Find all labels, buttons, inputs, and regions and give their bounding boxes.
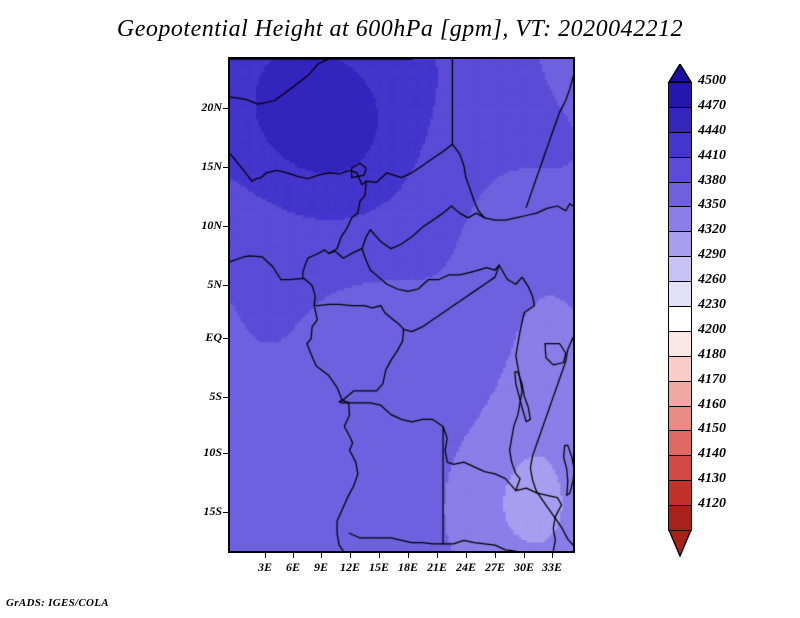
colorbar-tick-label-15: 4140 [698,446,726,462]
page-title: Geopotential Height at 600hPa [gpm], VT:… [0,16,800,43]
lon-tick-mark-7 [466,553,467,558]
colorbar-tick-label-4: 4380 [698,173,726,189]
lon-tick-mark-0 [265,553,266,558]
lat-tick-label-5: 5S [176,389,222,404]
colorbar-tick-label-6: 4320 [698,222,726,238]
lat-tick-label-0: 20N [176,100,222,115]
colorbar-tick-label-8: 4260 [698,272,726,288]
colorbar-segment-6 [668,231,692,257]
colorbar-segment-1 [668,107,692,133]
geopotential-height-field [230,59,573,551]
colorbar-segment-5 [668,206,692,232]
lon-tick-mark-3 [350,553,351,558]
colorbar-tick-label-16: 4130 [698,471,726,487]
colorbar-segment-16 [668,480,692,506]
colorbar-segment-8 [668,281,692,307]
colorbar-tick-label-5: 4350 [698,197,726,213]
colorbar-tick-label-17: 4120 [698,496,726,512]
lat-tick-label-1: 15N [176,159,222,174]
lon-tick-mark-4 [379,553,380,558]
colorbar-segment-10 [668,331,692,357]
colorbar-segment-14 [668,430,692,456]
colorbar-tick-label-10: 4200 [698,322,726,338]
lat-tick-mark-5 [223,397,228,398]
lat-tick-mark-3 [223,285,228,286]
grads-plot-canvas: Geopotential Height at 600hPa [gpm], VT:… [0,0,800,618]
colorbar-top-arrow [668,64,692,82]
lon-tick-mark-1 [293,553,294,558]
credit-label: GrADS: IGES/COLA [6,597,109,609]
colorbar-segment-0 [668,82,692,108]
colorbar-tick-label-3: 4410 [698,148,726,164]
colorbar-segment-2 [668,132,692,158]
lat-tick-label-2: 10N [176,218,222,233]
lat-tick-mark-4 [223,338,228,339]
lat-tick-label-3: 5N [176,277,222,292]
colorbar: 4500447044404410438043504320429042604230… [668,64,692,556]
colorbar-tick-label-14: 4150 [698,421,726,437]
colorbar-segment-7 [668,256,692,282]
lon-tick-mark-10 [552,553,553,558]
lat-tick-label-6: 10S [176,445,222,460]
colorbar-tick-label-0: 4500 [698,73,726,89]
lat-tick-mark-1 [223,167,228,168]
colorbar-segment-4 [668,182,692,208]
colorbar-segment-9 [668,306,692,332]
lat-tick-mark-2 [223,226,228,227]
colorbar-tick-label-11: 4180 [698,347,726,363]
lat-tick-mark-7 [223,512,228,513]
lon-tick-mark-9 [524,553,525,558]
colorbar-tick-label-1: 4470 [698,98,726,114]
lon-tick-mark-8 [495,553,496,558]
map-panel [228,57,575,553]
colorbar-segment-11 [668,356,692,382]
lon-tick-mark-6 [437,553,438,558]
lat-tick-mark-6 [223,453,228,454]
colorbar-tick-label-2: 4440 [698,123,726,139]
colorbar-tick-label-12: 4170 [698,372,726,388]
lat-tick-label-7: 15S [176,504,222,519]
colorbar-segment-3 [668,157,692,183]
lon-tick-mark-2 [321,553,322,558]
lon-tick-mark-5 [408,553,409,558]
colorbar-segment-13 [668,406,692,432]
colorbar-segment-12 [668,381,692,407]
lat-tick-label-4: EQ [176,330,222,345]
colorbar-segment-17 [668,505,692,531]
lat-tick-mark-0 [223,108,228,109]
lon-tick-label-10: 33E [532,560,572,575]
colorbar-tick-label-9: 4230 [698,297,726,313]
colorbar-tick-label-13: 4160 [698,397,726,413]
colorbar-bottom-arrow [668,530,692,556]
colorbar-segment-15 [668,455,692,481]
colorbar-tick-label-7: 4290 [698,247,726,263]
